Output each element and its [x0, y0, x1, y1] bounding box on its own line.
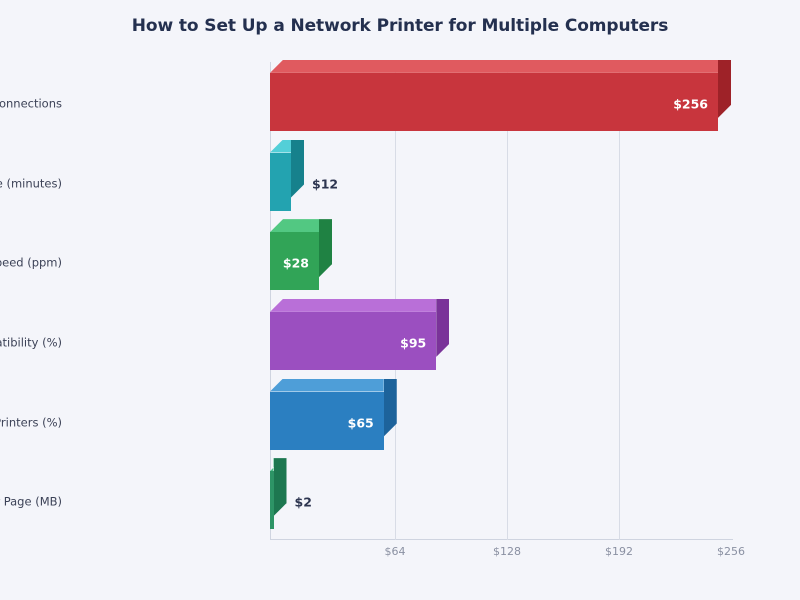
- bar-value-label: $28: [283, 256, 309, 271]
- bar: [270, 153, 304, 211]
- bar-side-face: [319, 219, 332, 277]
- x-axis-tick-label: $256: [717, 545, 745, 558]
- bar: [270, 471, 287, 529]
- bar-value-label: $256: [673, 96, 708, 111]
- bar-front-face: [270, 153, 291, 211]
- bar-value-label: $12: [312, 176, 338, 191]
- gridline: [619, 62, 620, 540]
- bar-side-face: [274, 458, 287, 516]
- bar-side-face: [291, 140, 304, 198]
- bar-front-face: [270, 471, 274, 529]
- bar: [270, 73, 731, 131]
- bar: [270, 392, 397, 450]
- chart-title: How to Set Up a Network Printer for Mult…: [0, 16, 800, 36]
- x-axis-tick-label: $128: [493, 545, 521, 558]
- bar-value-label: $65: [348, 415, 374, 430]
- gridline: [507, 62, 508, 540]
- y-axis-label: Max Simultaneous Connections: [0, 96, 62, 111]
- bar-value-label: $2: [295, 495, 312, 510]
- bar-top-face: [270, 379, 384, 392]
- bar-side-face: [436, 299, 449, 357]
- x-axis-tick-label: $64: [385, 545, 406, 558]
- plot-area: $256$12$28$95$65$2: [270, 62, 733, 540]
- y-axis-label: Average Setup Time (minutes): [0, 176, 62, 191]
- y-axis-label: OS Compatibility (%): [0, 335, 62, 350]
- bar-top-face: [270, 60, 718, 73]
- x-axis-tick-label: $192: [605, 545, 633, 558]
- y-axis-label: Print Speed (ppm): [0, 256, 62, 271]
- bar-front-face: [270, 73, 718, 131]
- y-axis-label: Network Bandwidth per Page (MB): [0, 495, 62, 510]
- bar-top-face: [270, 299, 436, 312]
- bar-value-label: $95: [400, 335, 426, 350]
- bar-side-face: [718, 60, 731, 118]
- y-axis-label: Cost Savings vs Individual Printers (%): [0, 415, 62, 430]
- chart-figure: How to Set Up a Network Printer for Mult…: [0, 0, 800, 600]
- bar-side-face: [384, 379, 397, 437]
